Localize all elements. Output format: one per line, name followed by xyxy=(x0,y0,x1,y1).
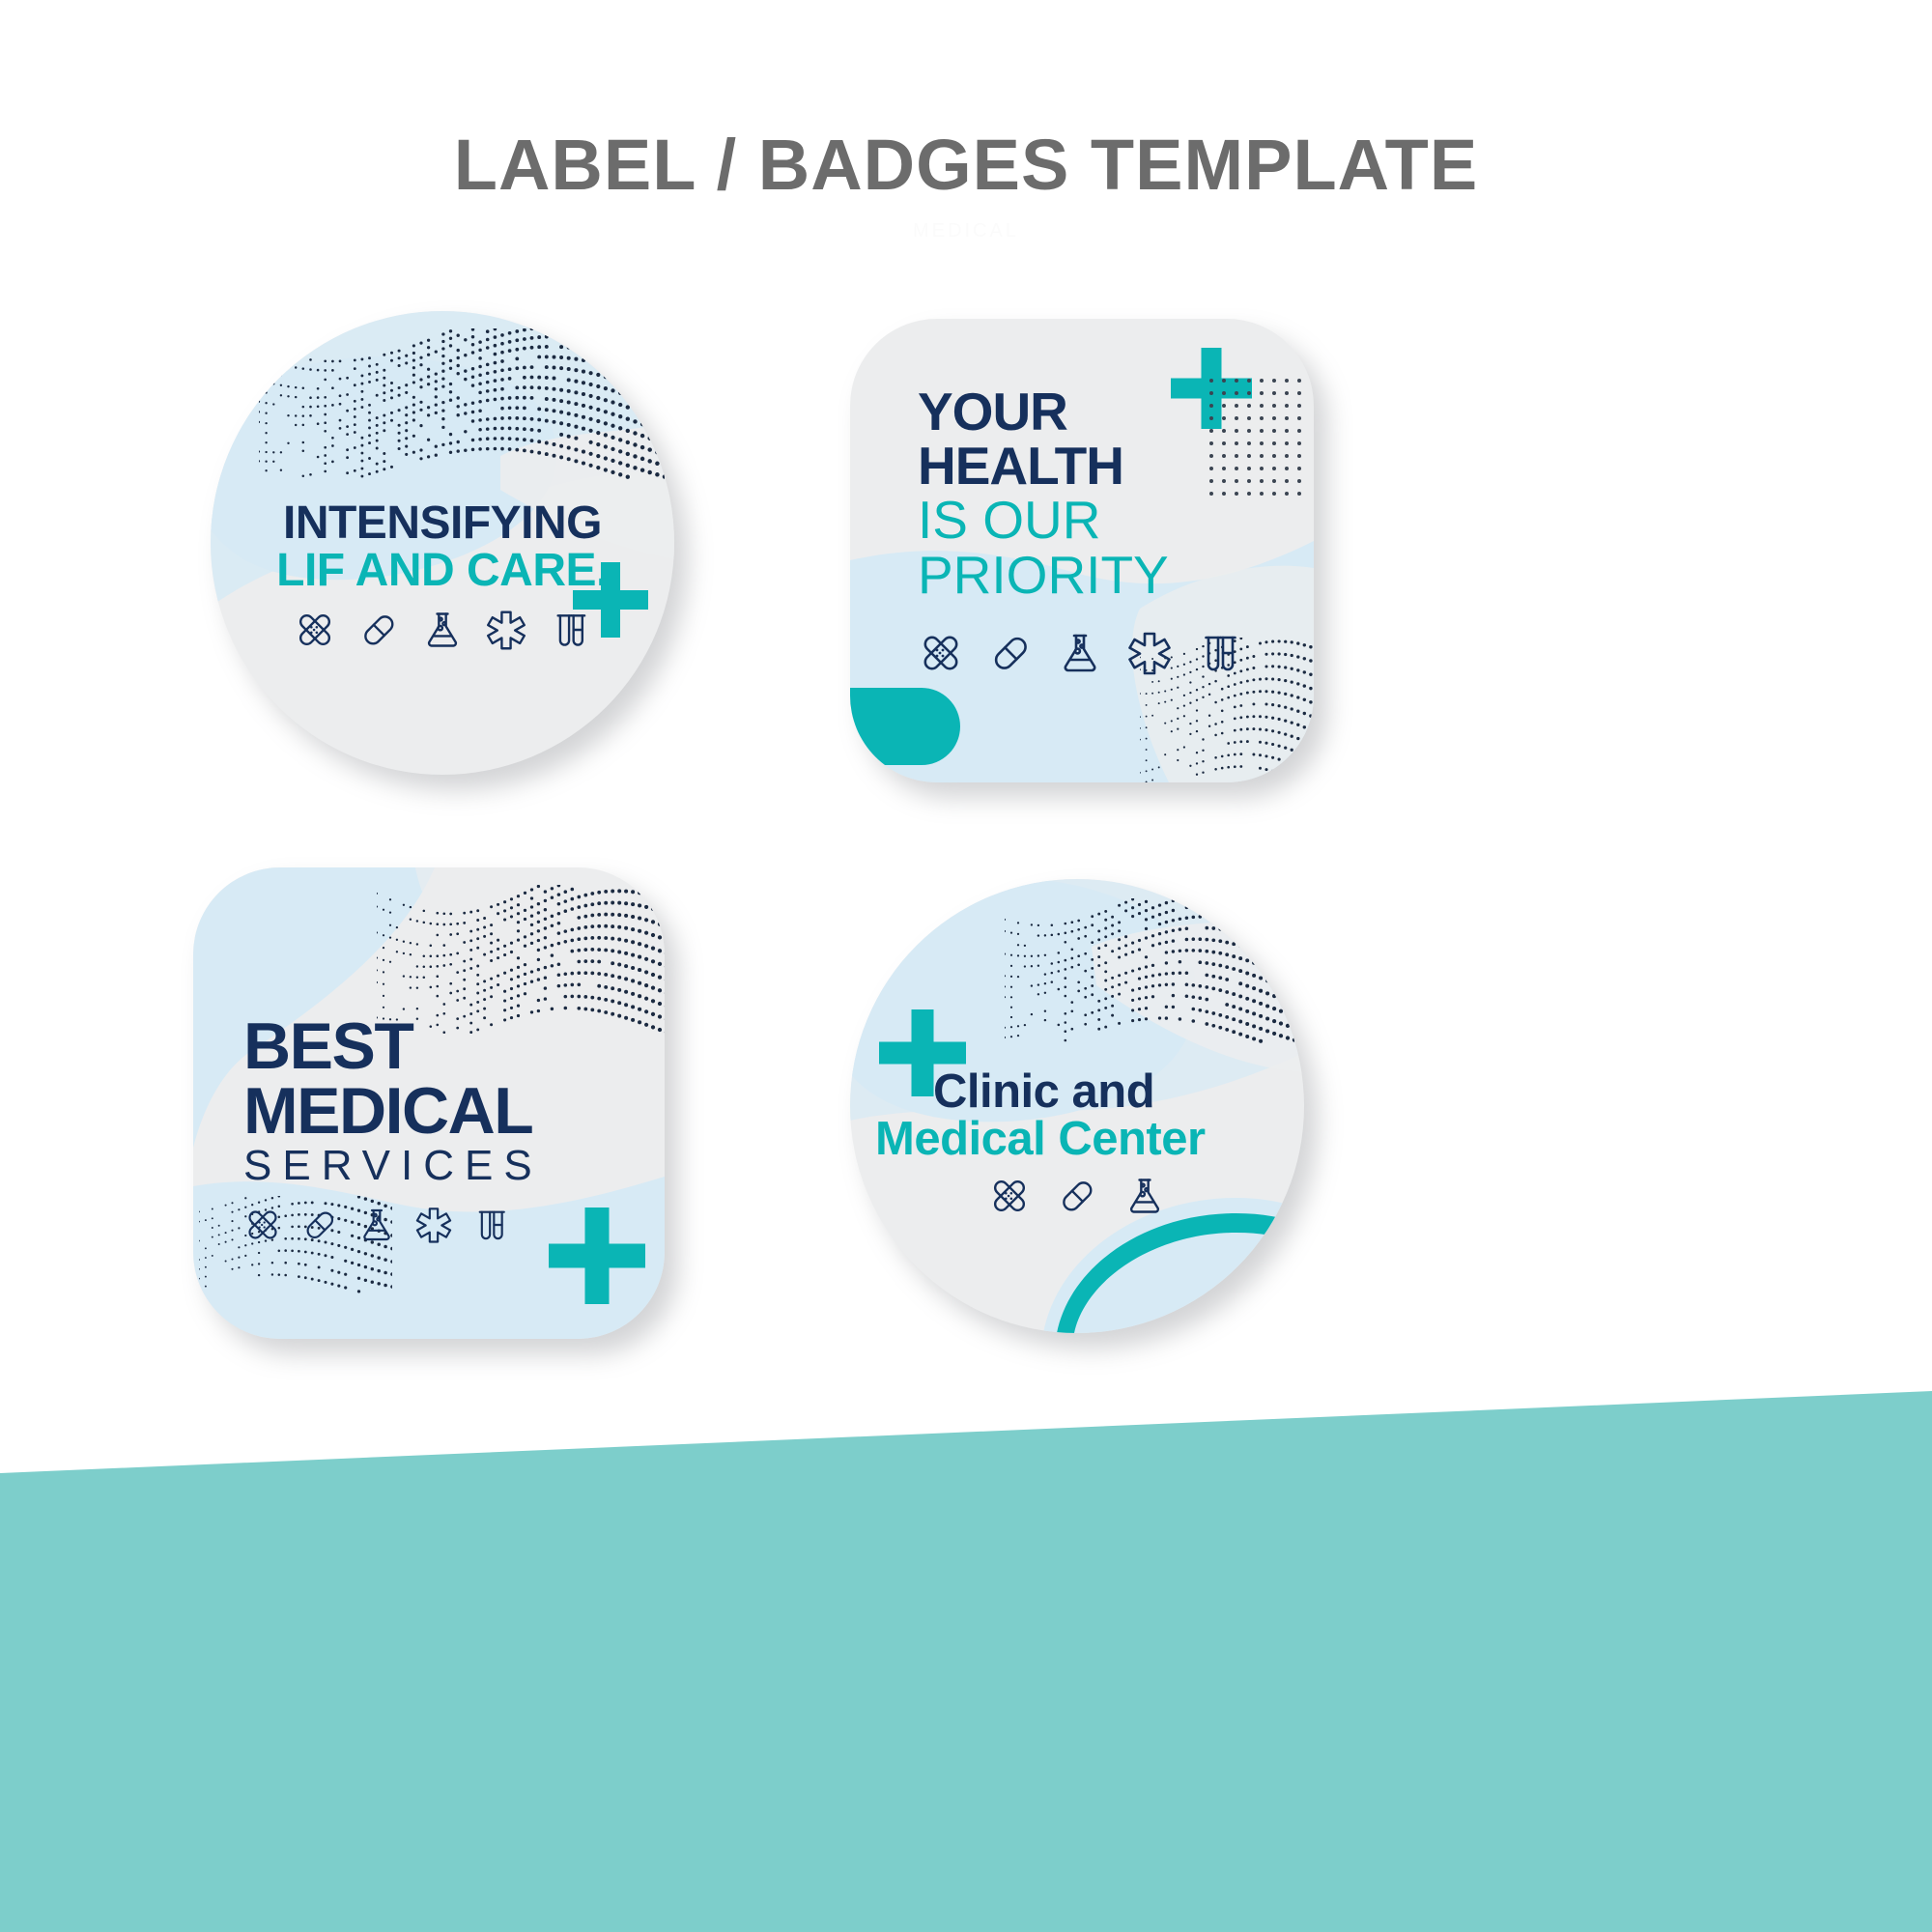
page-title: LABEL / BADGES TEMPLATE xyxy=(0,124,1932,206)
badge3-plus-icon xyxy=(549,1207,645,1304)
badge1-line1: INTENSIFYING xyxy=(220,500,665,548)
bandage-cross-icon xyxy=(988,1175,1031,1217)
badge3-icon-row xyxy=(243,1206,510,1244)
badge2-line1: YOUR xyxy=(918,384,1285,439)
flask-icon xyxy=(357,1206,396,1244)
star-of-life-icon xyxy=(1126,630,1173,676)
badge2-line2: HEALTH xyxy=(918,439,1285,493)
pill-capsule-icon xyxy=(300,1206,339,1244)
flask-icon xyxy=(1123,1175,1166,1217)
badge1-icon-row xyxy=(211,609,674,651)
badge4-text-block: Clinic and Medical Center xyxy=(933,1068,1300,1163)
badge2-line4: PRIORITY xyxy=(918,548,1285,603)
star-of-life-icon xyxy=(485,609,527,651)
test-tubes-icon xyxy=(471,1206,510,1244)
test-tubes-icon xyxy=(1196,630,1242,676)
pill-capsule-icon xyxy=(1056,1175,1098,1217)
test-tubes-icon xyxy=(549,609,591,651)
flask-icon xyxy=(421,609,464,651)
page-subtitle: MEDICAL xyxy=(0,220,1932,242)
badge-intensifying-lif-and-care[interactable]: INTENSIFYING LIF AND CARE. xyxy=(211,311,674,775)
flask-icon xyxy=(1057,630,1103,676)
bandage-cross-icon xyxy=(243,1206,282,1244)
badge-clinic-and-medical-center[interactable]: Clinic and Medical Center xyxy=(850,879,1304,1333)
badge1-dot-wave-pattern xyxy=(259,328,665,522)
star-of-life-icon xyxy=(414,1206,453,1244)
badge4-line1: Clinic and xyxy=(933,1068,1300,1116)
bandage-cross-icon xyxy=(294,609,336,651)
badge2-text-block: YOUR HEALTH IS OUR PRIORITY xyxy=(918,384,1285,604)
badge3-text-block: BEST MEDICAL SERVICES xyxy=(243,1014,649,1190)
badge2-teal-blob xyxy=(850,688,960,765)
badge1-line2: LIF AND CARE. xyxy=(220,548,665,595)
badge3-line3: SERVICES xyxy=(243,1143,649,1189)
badge4-icon-row xyxy=(850,1175,1304,1217)
badge2-icon-row xyxy=(918,630,1242,676)
background-teal-band xyxy=(0,1391,1932,1932)
badge4-line2: Medical Center xyxy=(875,1116,1300,1163)
badge-best-medical-services[interactable]: BEST MEDICAL SERVICES xyxy=(193,867,665,1339)
pill-capsule-icon xyxy=(357,609,400,651)
bandage-cross-icon xyxy=(918,630,964,676)
badge4-dot-wave-pattern xyxy=(1005,898,1294,1053)
badge3-line1: BEST xyxy=(243,1014,649,1079)
badge-your-health-is-our-priority[interactable]: YOUR HEALTH IS OUR PRIORITY xyxy=(850,319,1314,782)
pill-capsule-icon xyxy=(987,630,1034,676)
badge1-text-block: INTENSIFYING LIF AND CARE. xyxy=(220,500,665,595)
badge3-line2: MEDICAL xyxy=(243,1079,649,1144)
badge2-line3: IS OUR xyxy=(918,493,1285,548)
